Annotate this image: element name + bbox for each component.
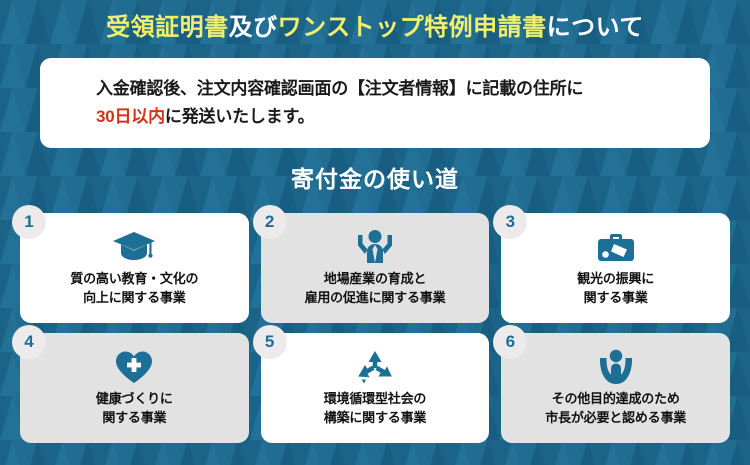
purpose-card-4-line-2: 関する事業 [96, 409, 173, 428]
recycle-icon [355, 347, 395, 387]
shipping-notice-card: 入金確認後、注文内容確認画面の【注文者情報】に記載の住所に 30日以内に発送いた… [40, 58, 710, 148]
purpose-card-5-label: 環境循環型社会の 構築に関する事業 [324, 390, 426, 428]
person-in-hands-icon [597, 347, 635, 387]
card-number-badge-3: 3 [493, 205, 527, 239]
purpose-card-5-line-1: 環境循環型社会の [324, 390, 426, 409]
section-heading: 寄付金の使い道 [0, 160, 750, 194]
purpose-card-3-line-2: 関する事業 [577, 289, 654, 308]
notice-line-2: 30日以内に発送いたします。 [96, 103, 710, 131]
page-title-part-1: 受領証明書 [106, 14, 229, 41]
heart-plus-icon [114, 347, 154, 387]
notice-line-2-text: に発送いたします。 [165, 107, 315, 126]
purpose-card-3[interactable]: 3 観光の振興に 関する事業 [501, 213, 730, 323]
notice-line-1: 入金確認後、注文内容確認画面の【注文者情報】に記載の住所に [96, 75, 710, 103]
page-title-part-2: 及び [229, 14, 278, 41]
purpose-card-4-line-1: 健康づくりに [96, 390, 173, 409]
purpose-card-2-label: 地場産業の育成と 雇用の促進に関する事業 [305, 270, 446, 308]
purpose-card-5-line-2: 構築に関する事業 [324, 409, 426, 428]
notice-deadline-highlight: 30日以内 [96, 107, 165, 126]
card-number-badge-2: 2 [253, 205, 287, 239]
purpose-card-1-line-1: 質の高い教育・文化の [70, 270, 198, 289]
purpose-card-4-label: 健康づくりに 関する事業 [96, 390, 173, 428]
purpose-card-1-line-2: 向上に関する事業 [70, 289, 198, 308]
page-title-part-3: ワンストップ特例申請書 [278, 14, 547, 41]
infographic-page: 受領証明書及びワンストップ特例申請書について 入金確認後、注文内容確認画面の【注… [0, 0, 750, 465]
purpose-card-3-label: 観光の振興に 関する事業 [577, 270, 654, 308]
purpose-card-2-line-2: 雇用の促進に関する事業 [305, 289, 446, 308]
purpose-card-2-line-1: 地場産業の育成と [305, 270, 446, 289]
purpose-card-4[interactable]: 4 健康づくりに 関する事業 [20, 333, 249, 443]
purpose-card-6[interactable]: 6 その他目的達成のため 市長が必要と認める事業 [501, 333, 730, 443]
card-number-badge-5: 5 [253, 325, 287, 359]
person-raising-arms-icon [353, 227, 397, 267]
suitcase-icon [595, 227, 637, 267]
purpose-card-6-line-1: その他目的達成のため [545, 390, 686, 409]
card-number-badge-4: 4 [12, 325, 46, 359]
card-number-badge-1: 1 [12, 205, 46, 239]
graduation-cap-icon [112, 227, 156, 267]
purpose-card-5[interactable]: 5 環境循環型社会の 構築に関する事業 [261, 333, 490, 443]
donation-purpose-grid: 1 質の高い教育・文化の 向上に関する事業 2 [20, 213, 730, 443]
purpose-card-1-label: 質の高い教育・文化の 向上に関する事業 [70, 270, 198, 308]
purpose-card-3-line-1: 観光の振興に [577, 270, 654, 289]
page-title-part-4: について [547, 14, 644, 41]
notice-line-1-text: 入金確認後、注文内容確認画面の【注文者情報】に記載の住所に [96, 79, 583, 98]
purpose-card-2[interactable]: 2 地場産業の育成と 雇用の促進に関する事業 [261, 213, 490, 323]
purpose-card-6-label: その他目的達成のため 市長が必要と認める事業 [545, 390, 686, 428]
page-title: 受領証明書及びワンストップ特例申請書について [0, 0, 750, 43]
card-number-badge-6: 6 [493, 325, 527, 359]
purpose-card-1[interactable]: 1 質の高い教育・文化の 向上に関する事業 [20, 213, 249, 323]
purpose-card-6-line-2: 市長が必要と認める事業 [545, 409, 686, 428]
